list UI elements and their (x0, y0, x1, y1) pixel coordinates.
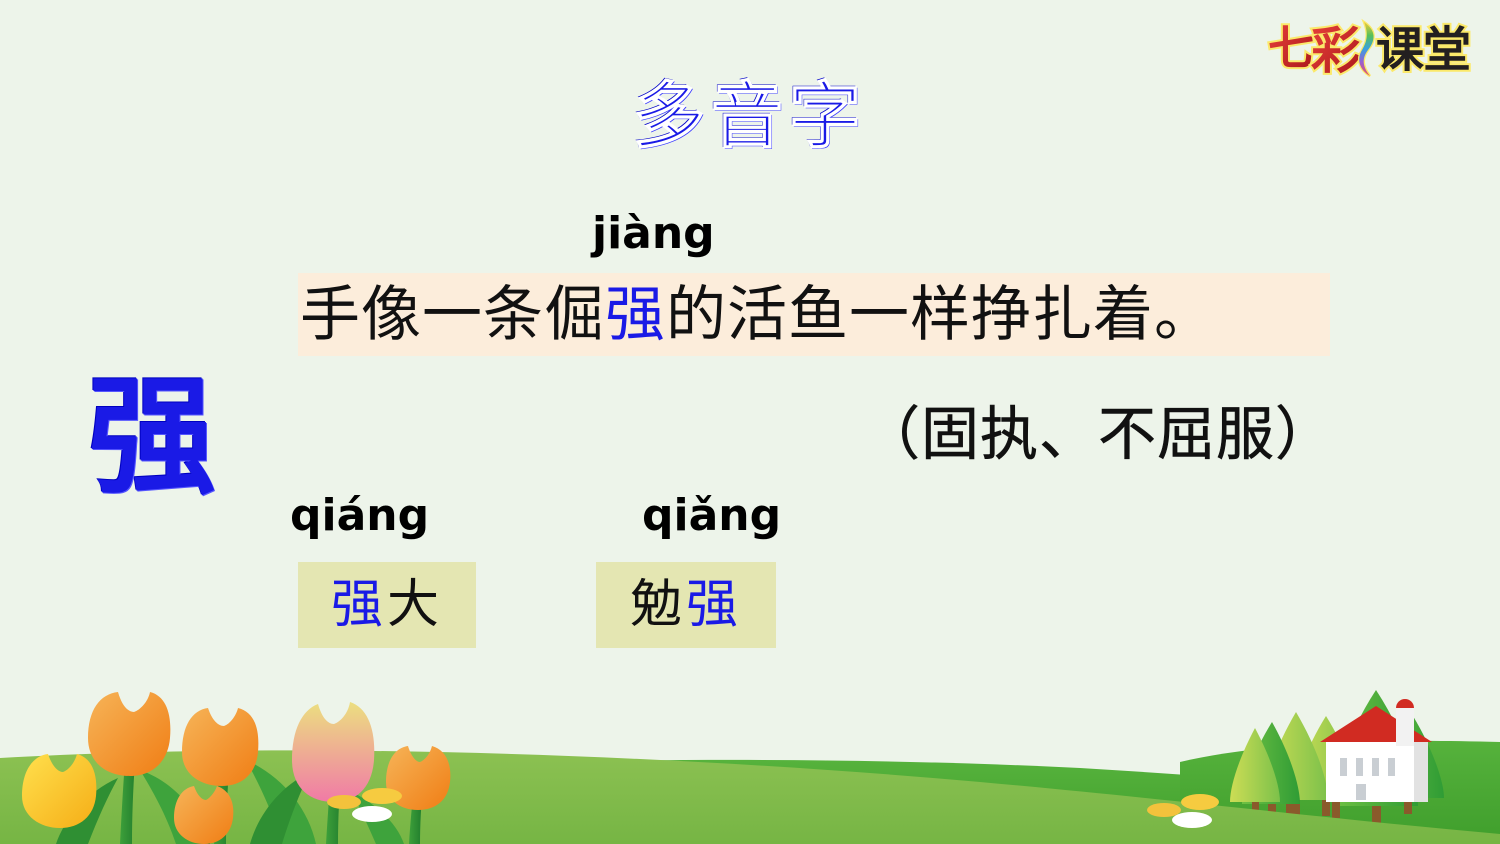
pinyin-qiang-second-tone: qiáng (290, 490, 429, 541)
house-illustration (1320, 699, 1432, 802)
svg-text:七: 七 (1268, 21, 1313, 75)
word-target-character: 强 (331, 577, 387, 633)
page-title: 多音字 (0, 74, 1500, 158)
pinyin-qiang-third-tone: qiǎng (642, 490, 781, 541)
meadow-flowers (327, 788, 1219, 828)
tulip-cluster (22, 692, 450, 844)
slide-canvas: 七 彩 课堂 多音字 jiàng 手像一条倔强的活鱼一样挣扎着。 （固执、不屈服… (0, 0, 1500, 844)
sentence-suffix: 的活鱼一样挣扎着。 (666, 280, 1215, 350)
svg-text:课堂: 课堂 (1376, 22, 1470, 78)
word-box-qiangda: 强大 (298, 562, 476, 648)
sentence-target-character: 强 (605, 280, 666, 350)
word-prefix: 勉 (630, 577, 686, 633)
word-rest: 大 (387, 577, 443, 633)
example-sentence: 手像一条倔强的活鱼一样挣扎着。 (300, 276, 1330, 354)
meaning-gloss: （固执、不屈服） (862, 398, 1334, 470)
word-target-character: 强 (686, 577, 742, 633)
word-box-mianqiang: 勉强 (596, 562, 776, 648)
svg-text:彩: 彩 (1311, 22, 1361, 80)
headword-character: 强 (62, 368, 242, 508)
sentence-prefix: 手像一条倔 (300, 280, 605, 350)
pinyin-jiang: jiàng (592, 208, 715, 259)
